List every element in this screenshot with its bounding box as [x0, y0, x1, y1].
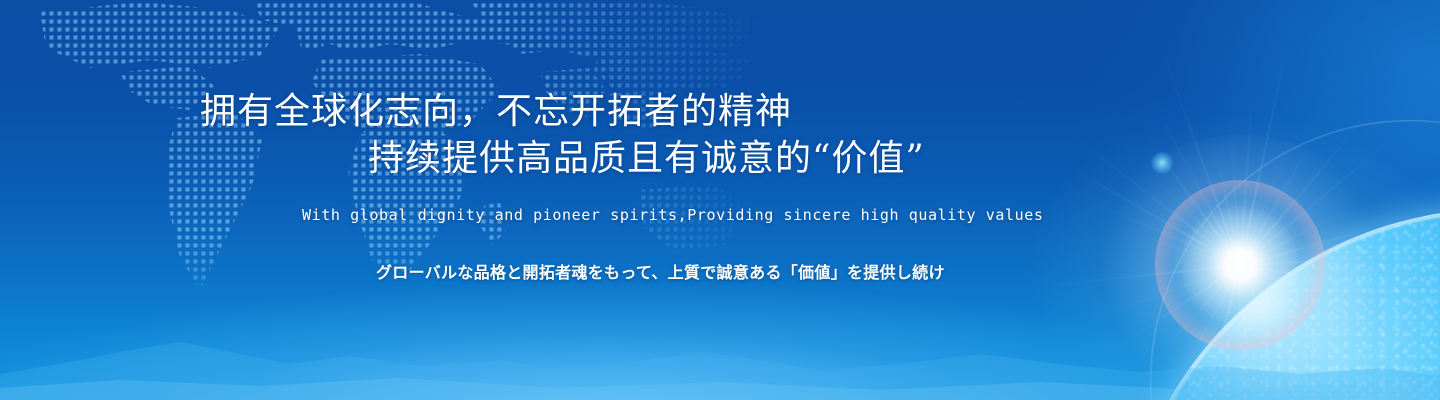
hero-banner: 拥有全球化志向，不忘开拓者的精神 持续提供高品质且有诚意的“价值” With g…	[0, 0, 1440, 400]
sun-ray	[1239, 69, 1254, 266]
sun-ray	[1146, 90, 1241, 266]
world-map-shape	[0, 0, 800, 334]
headline-line-1: 拥有全球化志向，不忘开拓者的精神	[200, 91, 792, 132]
sun-ray	[1052, 119, 1240, 267]
dotted-world-map	[0, 0, 800, 334]
lens-flare-dot	[1151, 152, 1173, 174]
sun-ray	[1239, 153, 1286, 266]
sun-ray	[1239, 129, 1319, 267]
sun-ray	[1239, 37, 1289, 266]
subtitle-english: With global dignity and pioneer spirits,…	[302, 206, 1044, 224]
headline-line-2: 持续提供高品质且有诚意的“价值”	[200, 135, 925, 182]
sun-ray	[1089, 201, 1241, 266]
sun-ray	[1017, 265, 1240, 290]
sun-ray	[1214, 145, 1241, 266]
sun-ray	[1118, 230, 1240, 266]
sun-ray	[1151, 252, 1240, 266]
page-title: 拥有全球化志向，不忘开拓者的精神 持续提供高品质且有诚意的“价值”	[200, 88, 925, 182]
world-map-mask	[0, 0, 800, 334]
sun-ray	[1228, 106, 1241, 266]
subtitle-japanese: グローバルな品格と開拓者魂をもって、上質で誠意ある「価値」を提供し続け	[376, 259, 945, 283]
sun-ray	[1144, 134, 1240, 266]
earth-planet	[1120, 210, 1440, 400]
sun-ray	[1064, 265, 1240, 330]
sun-ray	[1066, 165, 1241, 267]
sun-ray	[1159, 44, 1241, 266]
sun-ray	[1153, 175, 1241, 266]
